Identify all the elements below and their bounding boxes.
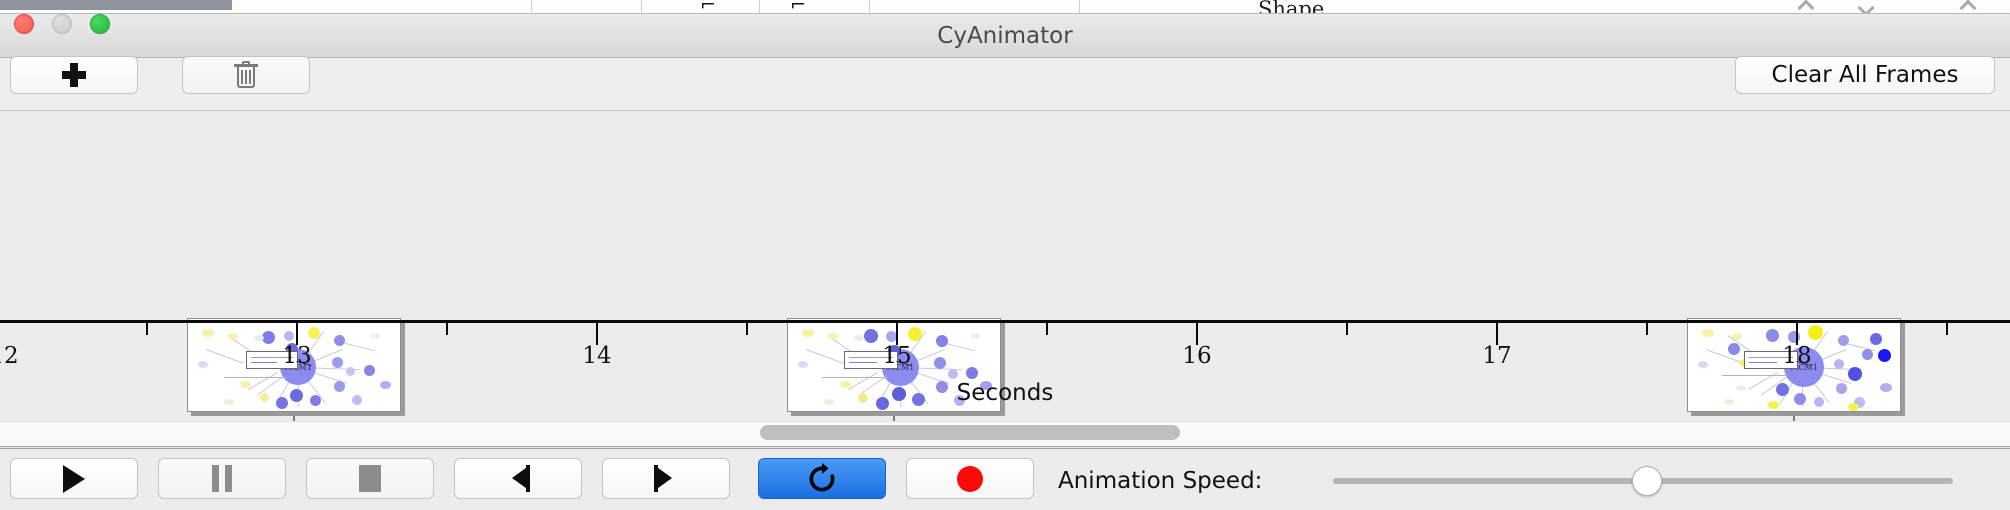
clear-all-frames-button[interactable]: Clear All Frames xyxy=(1735,56,1995,94)
timeline-axis xyxy=(0,320,2010,323)
timeline-scrollbar-thumb[interactable] xyxy=(760,425,1180,440)
background-segment xyxy=(760,0,870,13)
pause-icon xyxy=(212,465,232,492)
play-button[interactable] xyxy=(10,458,138,499)
axis-tick-major xyxy=(1496,323,1498,345)
axis-tick-major xyxy=(1196,323,1198,345)
animation-speed-slider-thumb[interactable] xyxy=(1632,466,1662,496)
stop-button[interactable] xyxy=(306,458,434,499)
delete-frame-button[interactable] xyxy=(182,56,310,94)
background-segment xyxy=(532,0,642,13)
axis-tick-minor xyxy=(146,323,148,335)
pause-button[interactable] xyxy=(158,458,286,499)
axis-tick-major xyxy=(896,323,898,345)
axis-tick-label: 12 xyxy=(0,343,19,369)
loop-button[interactable] xyxy=(758,458,886,499)
background-tab-label: Shape xyxy=(1258,0,1324,14)
animation-speed-label: Animation Speed: xyxy=(1058,468,1262,494)
chevron-icon xyxy=(1798,0,1815,14)
background-window-strip: ⌐ ⌐ Shape xyxy=(0,0,2010,14)
skip-back-icon xyxy=(506,465,530,492)
record-icon xyxy=(957,466,983,492)
loop-icon xyxy=(805,462,839,496)
axis-tick-label: 13 xyxy=(282,343,311,369)
axis-tick-label: 14 xyxy=(582,343,611,369)
axis-tick-minor xyxy=(746,323,748,335)
axis-tick-minor xyxy=(1946,323,1948,335)
axis-tick-label: 18 xyxy=(1782,343,1811,369)
axis-tick-major xyxy=(296,323,298,345)
background-glyph: ⌐ xyxy=(700,0,716,14)
skip-back-button[interactable] xyxy=(454,458,582,499)
axis-tick-minor xyxy=(1346,323,1348,335)
chevron-icon xyxy=(1858,0,1875,14)
axis-title: Seconds xyxy=(0,380,2010,406)
timeline-panel[interactable]: MCM1 xyxy=(0,111,2010,421)
play-icon xyxy=(63,465,85,493)
plus-icon xyxy=(61,62,87,88)
trash-icon xyxy=(234,61,258,89)
cyanimator-window: ⌐ ⌐ Shape CyAnimator Clear All Frames xyxy=(0,0,2010,510)
axis-tick-label: 17 xyxy=(1482,343,1511,369)
axis-tick-minor xyxy=(446,323,448,335)
axis-tick-label: 15 xyxy=(882,343,911,369)
skip-forward-icon xyxy=(654,465,678,492)
axis-tick-major xyxy=(1796,323,1798,345)
clear-all-frames-label: Clear All Frames xyxy=(1772,62,1959,88)
axis-tick-minor xyxy=(1046,323,1048,335)
chevron-icon xyxy=(1960,0,1977,14)
background-segment xyxy=(870,0,1080,13)
stop-icon xyxy=(359,465,381,492)
window-title: CyAnimator xyxy=(0,14,2010,58)
background-glyph: ⌐ xyxy=(790,0,806,14)
record-button[interactable] xyxy=(906,458,1034,499)
background-segment xyxy=(232,0,532,13)
axis-tick-minor xyxy=(1646,323,1648,335)
background-window-header xyxy=(0,0,232,10)
add-frame-button[interactable] xyxy=(10,56,138,94)
axis-tick-major xyxy=(596,323,598,345)
skip-forward-button[interactable] xyxy=(602,458,730,499)
axis-tick-label: 16 xyxy=(1182,343,1211,369)
